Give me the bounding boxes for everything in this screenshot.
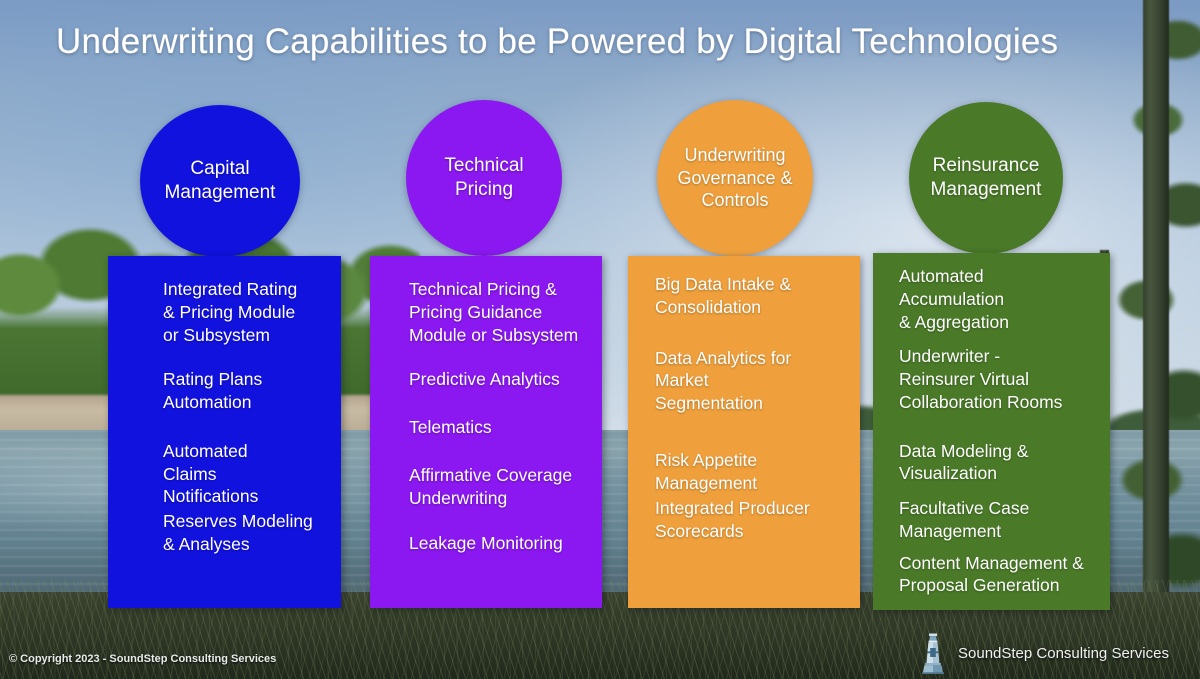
bubble-underwriting-governance-controls[interactable]: Underwriting Governance & Controls [657,100,813,256]
list-item[interactable]: Integrated Producer Scorecards [655,497,854,543]
list-item[interactable]: Content Management & Proposal Generation [899,552,1104,598]
page-title: Underwriting Capabilities to be Powered … [56,22,1058,62]
bubble-reinsurance-management[interactable]: Reinsurance Management [909,102,1063,254]
brand-logo-group[interactable]: SoundStep Consulting Services [918,631,1169,675]
capability-list-technical-pricing: Technical Pricing & Pricing Guidance Mod… [370,278,602,555]
list-item[interactable]: Integrated Rating & Pricing Module or Su… [163,278,333,346]
list-item[interactable]: Rating Plans Automation [163,368,333,414]
list-item[interactable]: Big Data Intake & Consolidation [655,273,854,319]
bubble-capital-management[interactable]: Capital Management [140,105,300,257]
list-item[interactable]: Predictive Analytics [409,368,598,391]
panel-underwriting-governance-controls: Big Data Intake & Consolidation Data Ana… [628,256,860,608]
list-item[interactable]: Data Modeling & Visualization [899,440,1104,486]
copyright-notice: © Copyright 2023 - SoundStep Consulting … [9,653,276,665]
list-item[interactable]: Reserves Modeling & Analyses [163,510,333,556]
list-item[interactable]: Telematics [409,416,598,439]
list-item[interactable]: Facultative Case Management [899,497,1104,543]
list-item[interactable]: Automated Claims Notifications [163,440,333,508]
background-tree-trunk [1143,0,1169,636]
panel-reinsurance-management: Automated Accumulation & Aggregation Und… [873,253,1110,610]
panel-capital-management: Integrated Rating & Pricing Module or Su… [108,256,341,608]
panel-technical-pricing: Technical Pricing & Pricing Guidance Mod… [370,256,602,608]
list-item[interactable]: Risk Appetite Management [655,449,854,495]
list-item[interactable]: Leakage Monitoring [409,532,598,555]
slide-canvas: Underwriting Capabilities to be Powered … [0,0,1200,679]
capability-list-underwriting-governance-controls: Big Data Intake & Consolidation Data Ana… [628,273,860,543]
brand-name: SoundStep Consulting Services [958,645,1169,662]
lighthouse-icon [918,632,948,674]
list-item[interactable]: Underwriter - Reinsurer Virtual Collabor… [899,345,1104,413]
capability-list-capital-management: Integrated Rating & Pricing Module or Su… [108,278,341,556]
list-item[interactable]: Automated Accumulation & Aggregation [899,265,1104,333]
bubble-technical-pricing[interactable]: Technical Pricing [406,100,562,256]
list-item[interactable]: Data Analytics for Market Segmentation [655,347,854,415]
capability-list-reinsurance-management: Automated Accumulation & Aggregation Und… [873,265,1110,597]
list-item[interactable]: Affirmative Coverage Underwriting [409,464,598,510]
list-item[interactable]: Technical Pricing & Pricing Guidance Mod… [409,278,598,346]
